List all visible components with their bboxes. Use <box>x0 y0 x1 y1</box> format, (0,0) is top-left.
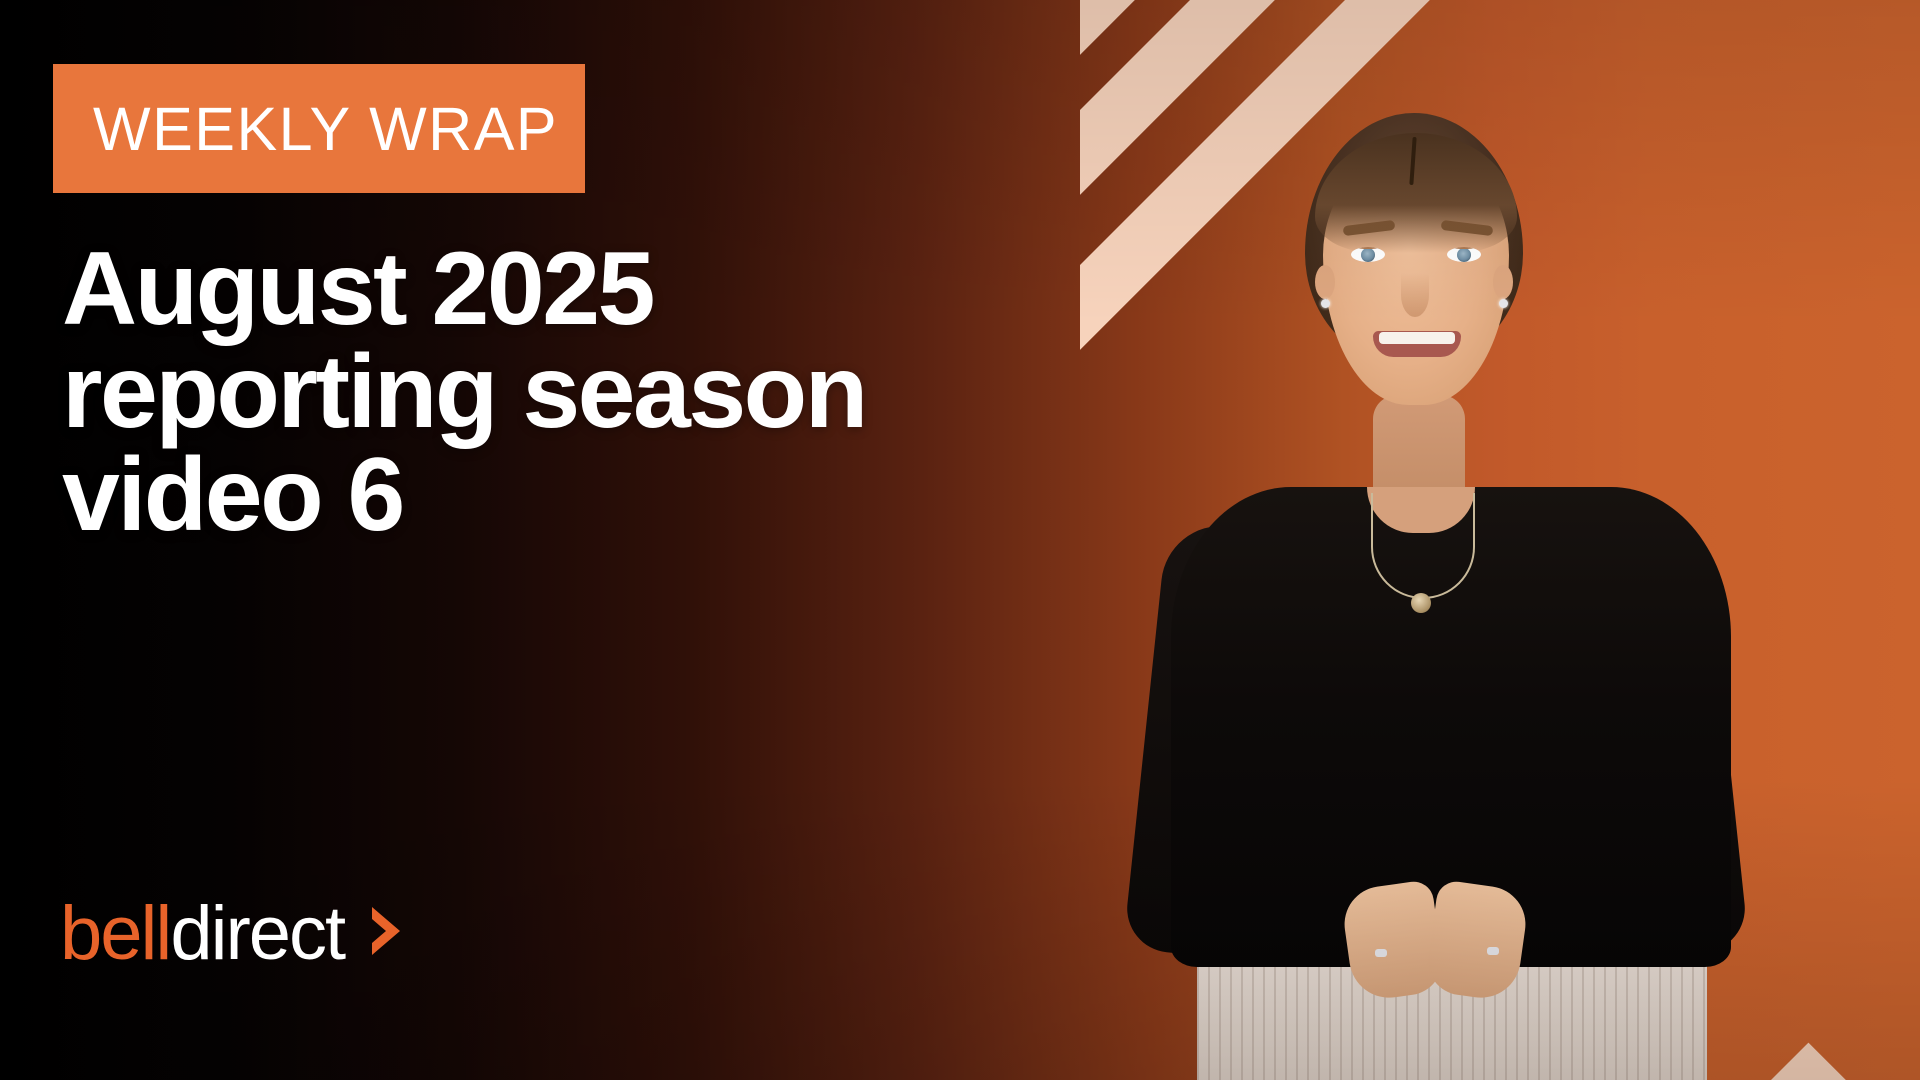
logo-word-bell: bell <box>60 896 170 972</box>
page-title: August 2025 reporting season video 6 <box>62 238 1122 547</box>
thumbnail-canvas: WEEKLY WRAP August 2025 reporting season… <box>0 0 1920 1080</box>
page-title-line-3: video 6 <box>62 444 1122 547</box>
weekly-wrap-badge-label: WEEKLY WRAP <box>53 94 558 164</box>
chevron-right-icon <box>366 903 410 959</box>
weekly-wrap-badge: WEEKLY WRAP <box>53 64 585 193</box>
logo-word-direct: direct <box>170 896 344 972</box>
belldirect-logo: bell direct <box>60 892 410 976</box>
page-title-line-2: reporting season <box>62 341 1122 444</box>
page-title-line-1: August 2025 <box>62 238 1122 341</box>
